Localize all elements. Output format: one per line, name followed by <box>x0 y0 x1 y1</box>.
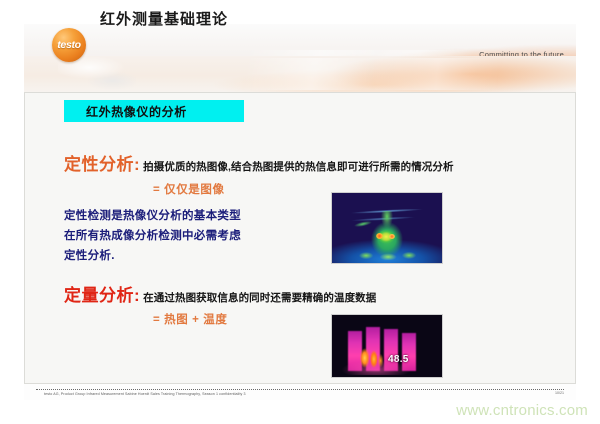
qualitative-lead-label: 定性分析: <box>64 150 140 175</box>
testo-logo-label: testo <box>52 28 86 62</box>
footer-page-number: 10/21 <box>555 391 564 395</box>
thermal-image-bars: 48.5 <box>331 314 443 378</box>
title-band-streaks <box>226 58 566 90</box>
thermal-helicopter-hotspot-a <box>376 233 383 239</box>
thermal-helicopter-hotspot-b <box>389 234 395 239</box>
qualitative-analysis-row: 定性分析: 拍摄优质的热图像,结合热图提供的热信息即可进行所需的情况分析 <box>64 150 454 175</box>
subtitle-highlight-bar: 红外热像仪的分析 <box>64 100 244 122</box>
quantitative-body-text: 在通过热图获取信息的同时还需要精确的温度数据 <box>143 290 376 305</box>
slide-canvas: Committing to the future 红外测量基础理论 testo … <box>0 0 600 424</box>
testo-logo-icon: testo <box>52 28 86 62</box>
thermal-bars-glow <box>340 349 426 375</box>
quantitative-equation: = 热图 + 温度 <box>153 311 227 327</box>
thermal-image-helicopter <box>331 192 443 264</box>
qualitative-body-text: 拍摄优质的热图像,结合热图提供的热信息即可进行所需的情况分析 <box>143 159 453 174</box>
qualitative-equation: = 仅仅是图像 <box>153 181 225 197</box>
page-title: 红外测量基础理论 <box>100 8 228 29</box>
thermal-helicopter-skids <box>358 249 416 260</box>
qualitative-note-block: 定性检测是热像仪分析的基本类型 在所有热成像分析检测中必需考虑 定性分析. <box>64 206 241 266</box>
subtitle-label: 红外热像仪的分析 <box>86 103 187 120</box>
qualitative-note-line-2: 在所有热成像分析检测中必需考虑 <box>64 226 241 246</box>
quantitative-lead-label: 定量分析: <box>64 281 140 306</box>
qualitative-note-line-3: 定性分析. <box>64 246 241 266</box>
footer-divider <box>36 389 564 390</box>
footer-text: testo AG, Product Group Infrared Measure… <box>44 392 246 396</box>
site-watermark: www.cntronics.com <box>456 402 588 419</box>
quantitative-analysis-row: 定量分析: 在通过热图获取信息的同时还需要精确的温度数据 <box>64 281 376 306</box>
thermal-bars-hotspot <box>359 347 383 369</box>
qualitative-note-line-1: 定性检测是热像仪分析的基本类型 <box>64 206 241 226</box>
thermal-temperature-label: 48.5 <box>388 354 409 365</box>
